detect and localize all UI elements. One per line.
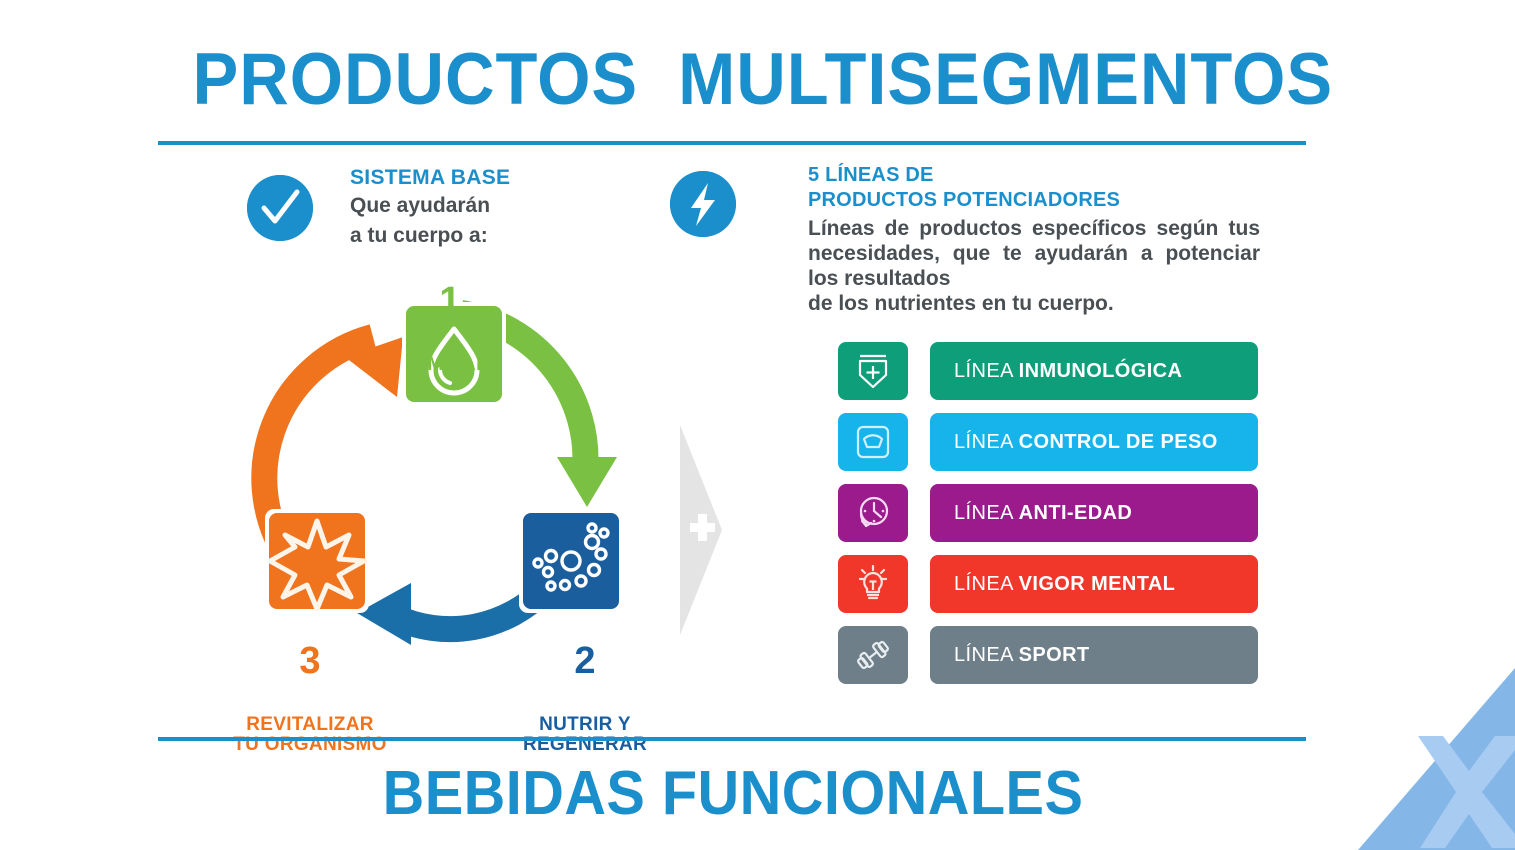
product-line-label[interactable]: LÍNEA ANTI-EDAD xyxy=(930,484,1258,542)
product-line-row[interactable]: LÍNEA SPORT xyxy=(838,626,1258,684)
potenciadores-body: Líneas de productos específicos según tu… xyxy=(808,216,1260,316)
product-line-label[interactable]: LÍNEA INMUNOLÓGICA xyxy=(930,342,1258,400)
bottom-divider xyxy=(158,737,1306,741)
page-title: PRODUCTOS MULTISEGMENTOS xyxy=(193,38,1274,121)
lightbulb-icon xyxy=(838,555,908,613)
cycle-number-1: 1 xyxy=(360,282,540,322)
cycle-text-limpiar: LIMPIAR xyxy=(360,355,540,375)
lightning-bolt-circle-icon xyxy=(670,171,736,237)
clock-rewind-icon xyxy=(838,484,908,542)
plus-arrow-icon xyxy=(676,425,726,640)
sistema-base-header: SISTEMA BASE Que ayudarán a tu cuerpo a: xyxy=(350,165,650,251)
sistema-base-kicker: SISTEMA BASE xyxy=(350,165,650,191)
product-line-lead: LÍNEA xyxy=(954,644,1019,667)
dumbbell-icon xyxy=(838,626,908,684)
product-line-label[interactable]: LÍNEA SPORT xyxy=(930,626,1258,684)
step-square-revitalizar xyxy=(265,509,369,613)
step-square-nutrir xyxy=(519,509,623,613)
product-line-name: SPORT xyxy=(1019,644,1090,667)
product-line-row[interactable]: LÍNEA VIGOR MENTAL xyxy=(838,555,1258,613)
product-line-name: INMUNOLÓGICA xyxy=(1019,360,1183,383)
product-line-row[interactable]: LÍNEA INMUNOLÓGICA xyxy=(838,342,1258,400)
product-line-name: CONTROL DE PESO xyxy=(1019,431,1218,454)
sistema-base-line1: Que ayudarán xyxy=(350,191,650,221)
product-line-lead: LÍNEA xyxy=(954,502,1019,525)
cycle-text-revitalizar: REVITALIZAR TU ORGANISMO xyxy=(215,715,405,755)
product-line-lead: LÍNEA xyxy=(954,360,1019,383)
potenciadores-header: 5 LÍNEAS DE PRODUCTOS POTENCIADORES Líne… xyxy=(808,163,1260,316)
top-divider xyxy=(158,141,1306,145)
potenciadores-body-text: Líneas de productos específicos según tu… xyxy=(808,217,1260,290)
cycle-number-3: 3 xyxy=(215,642,405,682)
product-line-row[interactable]: LÍNEA CONTROL DE PESO xyxy=(838,413,1258,471)
potenciadores-kicker-2: PRODUCTOS POTENCIADORES xyxy=(808,188,1260,213)
product-line-label[interactable]: LÍNEA CONTROL DE PESO xyxy=(930,413,1258,471)
product-line-label[interactable]: LÍNEA VIGOR MENTAL xyxy=(930,555,1258,613)
weight-scale-icon xyxy=(838,413,908,471)
potenciadores-kicker-1: 5 LÍNEAS DE xyxy=(808,163,1260,188)
slide-canvas: PRODUCTOS MULTISEGMENTOS SISTEMA BASE Qu… xyxy=(0,0,1515,850)
product-line-lead: LÍNEA xyxy=(954,431,1019,454)
product-line-name: ANTI-EDAD xyxy=(1019,502,1133,525)
cycle-number-2: 2 xyxy=(490,642,680,682)
page-subtitle: BEBIDAS FUNCIONALES xyxy=(198,758,1268,829)
x-logo-icon xyxy=(1310,668,1515,850)
shield-plus-icon xyxy=(838,342,908,400)
product-line-lead: LÍNEA xyxy=(954,573,1019,596)
product-line-name: VIGOR MENTAL xyxy=(1019,573,1176,596)
check-circle-icon xyxy=(247,175,313,241)
product-line-row[interactable]: LÍNEA ANTI-EDAD xyxy=(838,484,1258,542)
cycle-text-nutrir: NUTRIR Y REGENERAR xyxy=(490,715,680,755)
potenciadores-body-lastline: de los nutrientes en tu cuerpo. xyxy=(808,291,1260,316)
cycle-label-limpiar: 1 LIMPIAR xyxy=(360,248,540,409)
